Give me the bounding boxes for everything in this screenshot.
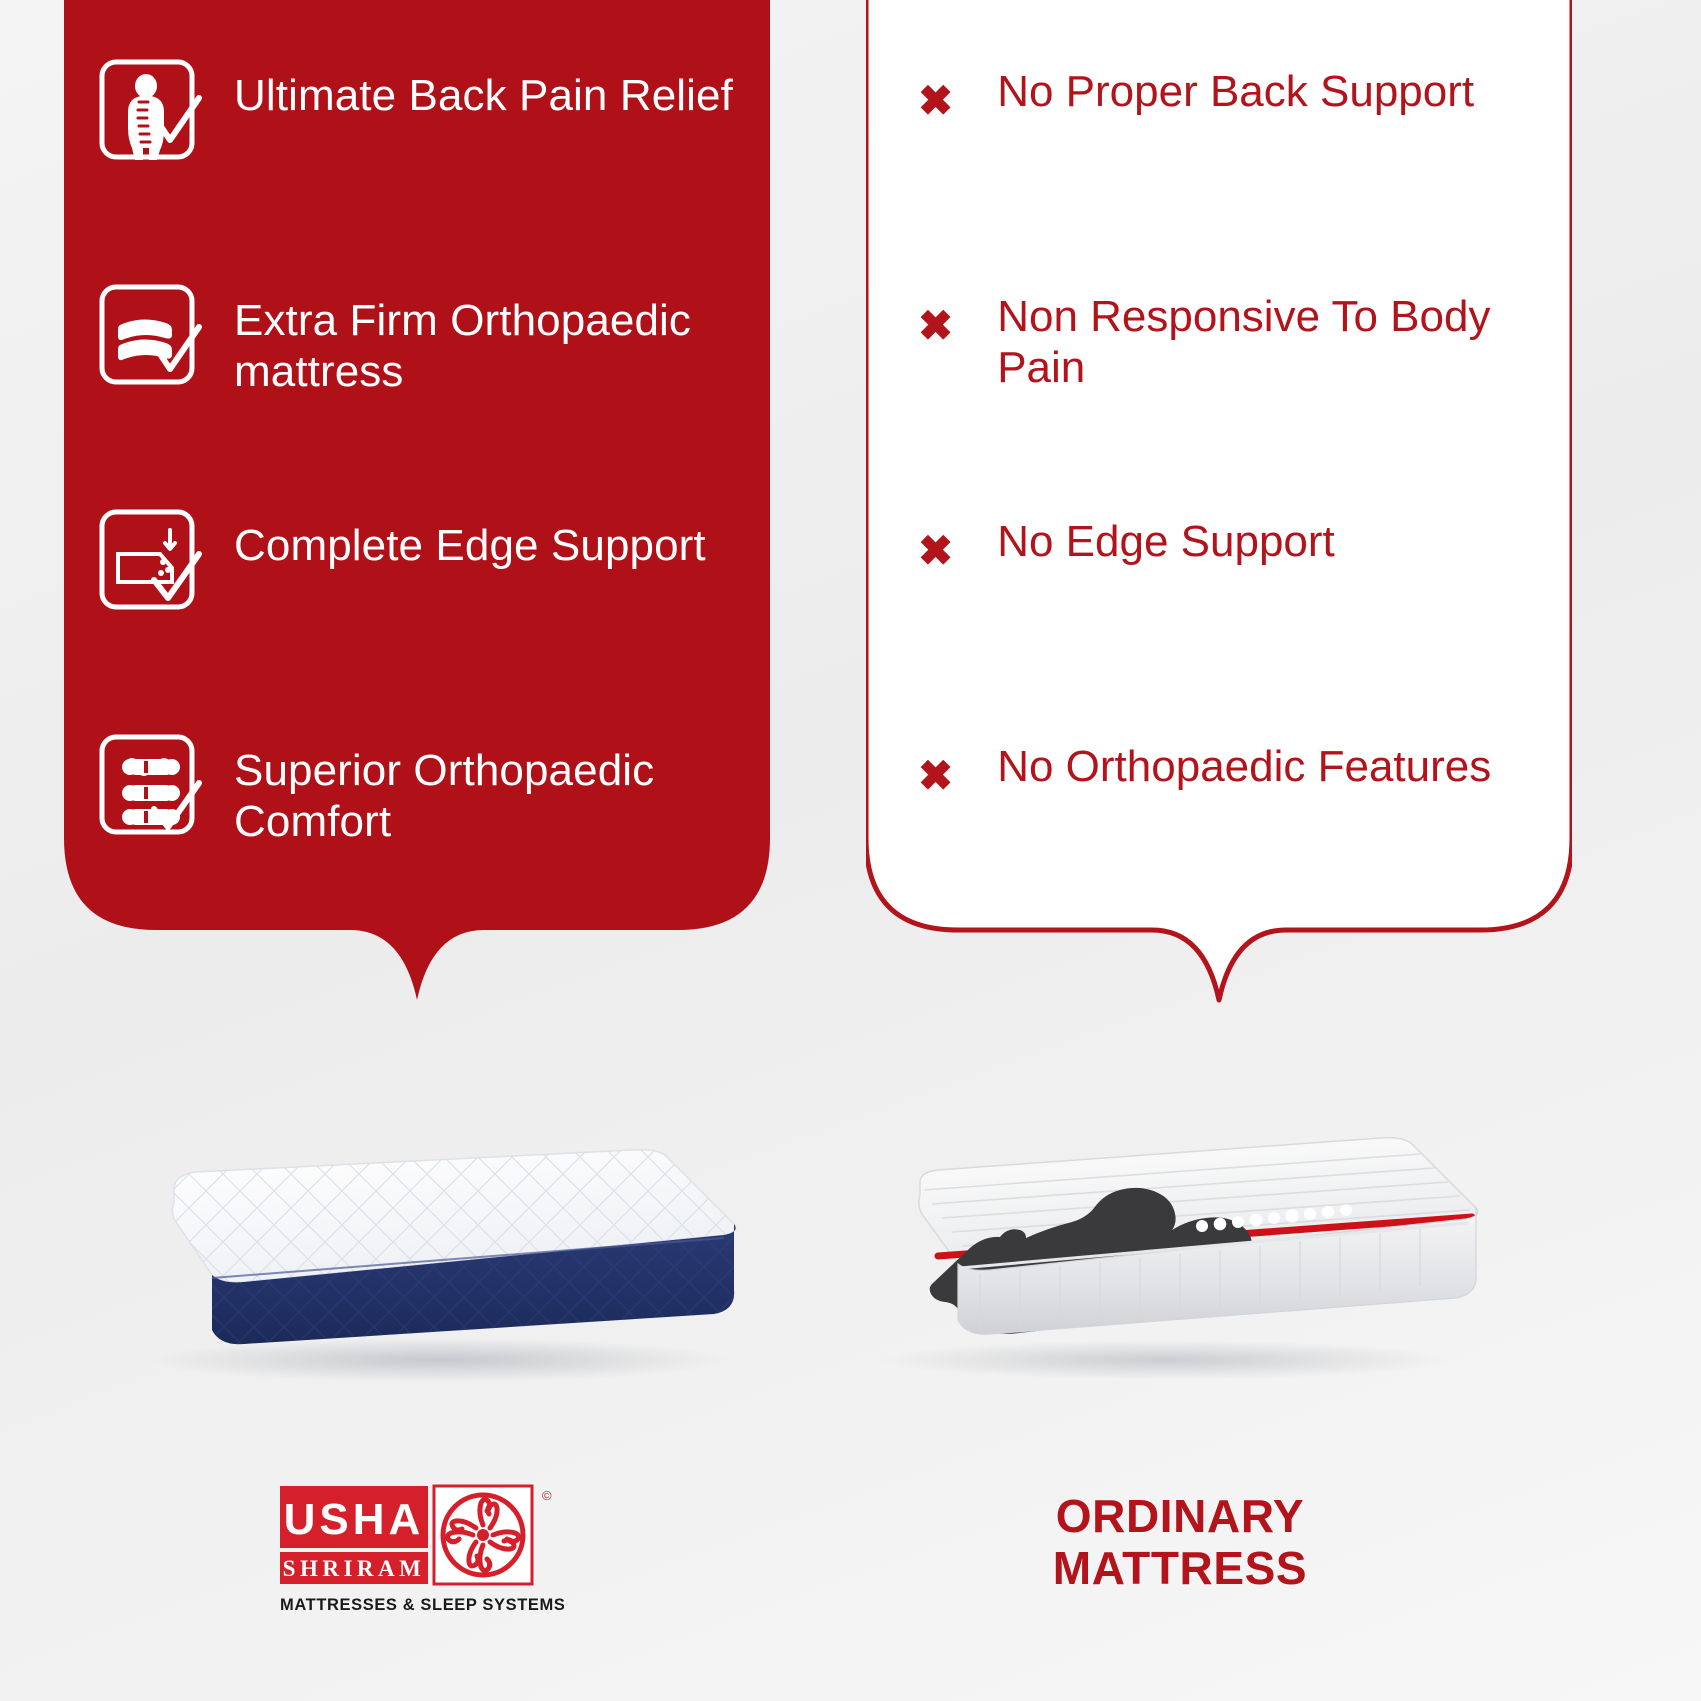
coil-spring-icon [100,735,204,839]
logo-usha-text: USHA [284,1495,425,1544]
con-item-no-back-support: ✖ No Proper Back Support [918,58,1528,283]
usha-mattress-image [104,1072,764,1382]
pros-list: Ultimate Back Pain Relief [64,0,770,954]
pro-item-back-pain-relief: Ultimate Back Pain Relief [100,54,750,279]
pro-item-extra-firm: Extra Firm Orthopaedic mattress [100,279,750,504]
ordinary-label-line1: ORDINARY [880,1490,1480,1542]
cons-panel: ✖ No Proper Back Support ✖ Non Responsiv… [866,0,1572,1060]
pro-item-orthopaedic-comfort: Superior Orthopaedic Comfort [100,729,750,954]
ordinary-mattress-label: ORDINARY MATTRESS [880,1490,1480,1595]
ordinary-label-line2: MATTRESS [880,1542,1480,1594]
con-item-non-responsive: ✖ Non Responsive To Body Pain [918,283,1528,508]
edge-support-icon [100,510,204,614]
cross-icon: ✖ [918,283,953,347]
infographic-stage: Ultimate Back Pain Relief [0,0,1701,1701]
cross-icon: ✖ [918,58,953,122]
pros-content: Ultimate Back Pain Relief [64,0,770,940]
pro-item-label: Superior Orthopaedic Comfort [234,729,750,847]
logo-tagline: MATTRESSES & SLEEP SYSTEMS [280,1596,564,1614]
pro-item-label: Extra Firm Orthopaedic mattress [234,279,750,397]
layered-mattress-icon [100,285,204,389]
cross-icon: ✖ [918,733,953,797]
cons-list: ✖ No Proper Back Support ✖ Non Responsiv… [866,0,1572,958]
pro-item-label: Complete Edge Support [234,504,706,571]
logo-shriram-text: SHRIRAM [283,1556,426,1581]
con-item-label: No Edge Support [997,508,1335,567]
con-item-no-edge-support: ✖ No Edge Support [918,508,1528,733]
pros-panel: Ultimate Back Pain Relief [64,0,770,1060]
con-item-no-orthopaedic: ✖ No Orthopaedic Features [918,733,1528,958]
pro-item-label: Ultimate Back Pain Relief [234,54,733,121]
pro-item-edge-support: Complete Edge Support [100,504,750,729]
con-item-label: No Orthopaedic Features [997,733,1491,792]
cross-icon: ✖ [918,508,953,572]
cons-content: ✖ No Proper Back Support ✖ Non Responsiv… [866,0,1572,940]
logo-copyright-mark: © [542,1488,552,1503]
spine-body-icon [100,60,204,164]
con-item-label: Non Responsive To Body Pain [997,283,1528,394]
usha-shriram-logo: USHA SHRIRAM © [274,1480,564,1625]
ordinary-mattress-image [820,1078,1500,1378]
con-item-label: No Proper Back Support [997,58,1474,117]
